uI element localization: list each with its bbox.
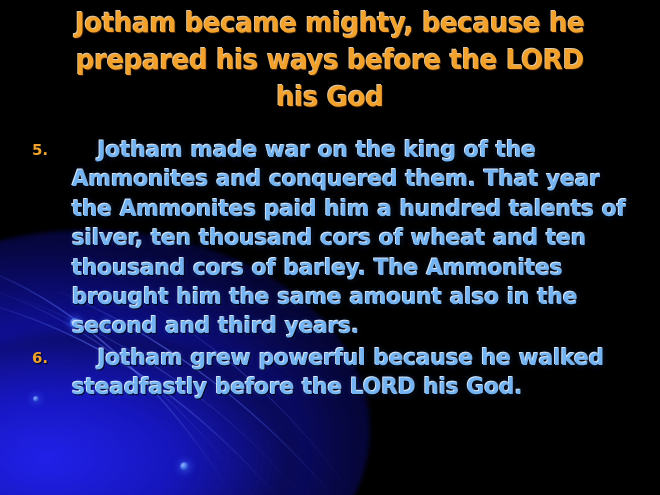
list-item-text: Jotham made war on the king of the Ammon… — [72, 136, 631, 342]
list-marker: 6. — [32, 349, 62, 367]
list-item: 6. Jotham grew powerful because he walke… — [28, 344, 640, 403]
list-marker: 5. — [32, 141, 62, 159]
list-item-text: Jotham grew powerful because he walked s… — [72, 344, 631, 403]
title-line-3: his God — [40, 78, 620, 115]
presentation-slide: Jotham became mighty, because he prepare… — [0, 0, 660, 495]
list-item: 5. Jotham made war on the king of the Am… — [28, 136, 640, 342]
slide-title: Jotham became mighty, because he prepare… — [18, 4, 642, 115]
slide-body: 5. Jotham made war on the king of the Am… — [28, 136, 640, 405]
title-line-2: prepared his ways before the LORD — [40, 41, 620, 78]
title-line-1: Jotham became mighty, because he — [40, 4, 620, 41]
orbit-dot-3 — [180, 462, 189, 471]
